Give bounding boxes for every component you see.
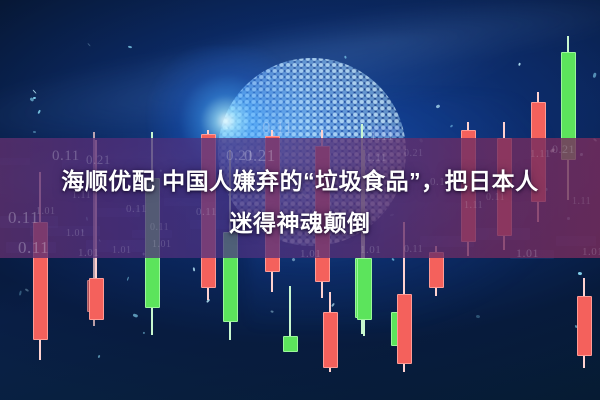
price-number: 1.01 xyxy=(360,244,381,256)
price-number: 1.11 xyxy=(370,128,394,144)
price-number: 1.01 xyxy=(516,246,539,261)
headline-line-1: 海顺优配 中国人嫌弃的“垃圾食品”，把日本人 xyxy=(0,160,600,202)
price-number: 1.01 xyxy=(112,245,132,256)
price-number: 0.21 xyxy=(404,148,424,159)
headline-line-2: 迷得神魂颠倒 xyxy=(0,202,600,244)
headline-text: 海顺优配 中国人嫌弃的“垃圾食品”，把日本人 迷得神魂颠倒 xyxy=(0,160,600,244)
price-number: 1.11 xyxy=(530,148,551,160)
price-number: 1.01 xyxy=(78,247,99,259)
price-number: 0.11 xyxy=(262,118,293,138)
price-number: 1.01 xyxy=(582,246,600,258)
banner-image: 0.110.110.111.011.011.011.010.211.110.11… xyxy=(0,0,600,400)
price-number: 1.01 xyxy=(300,248,321,260)
price-number: 0.21 xyxy=(552,142,575,157)
price-number: 0.11 xyxy=(404,244,423,255)
